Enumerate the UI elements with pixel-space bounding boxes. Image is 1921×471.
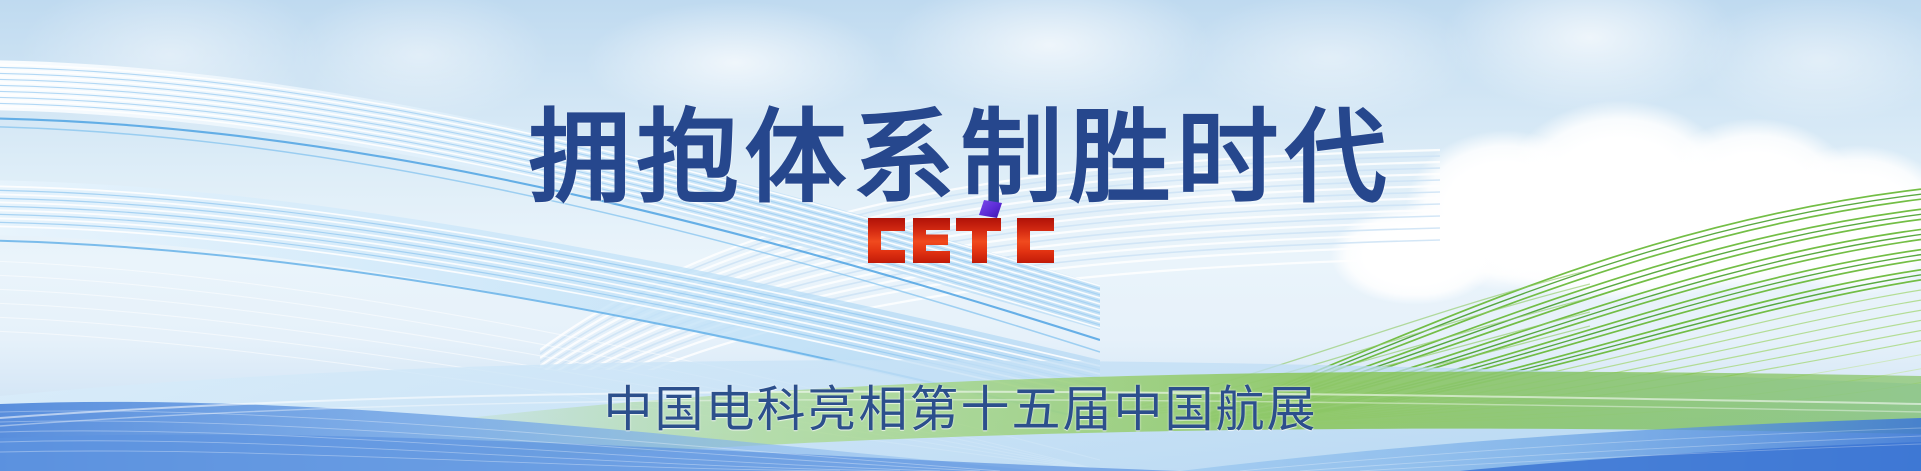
diamond-accent-icon [979,200,1002,218]
page-subtitle: 中国电科亮相第十五届中国航展 [0,384,1921,435]
page-title: 拥抱体系制胜时代 [0,108,1921,210]
cetc-logo [861,200,1061,274]
cetc-airshow-banner: 拥抱体系制胜时代 [0,0,1921,471]
